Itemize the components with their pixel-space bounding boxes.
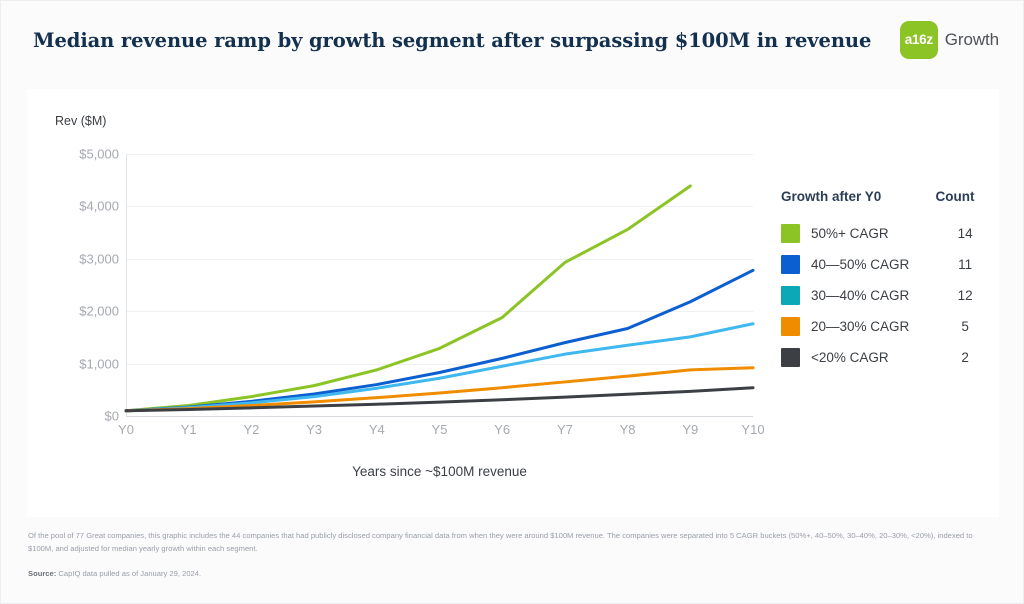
page-title: Median revenue ramp by growth segment af…: [33, 29, 871, 52]
footnotes: Of the pool of 77 Great companies, this …: [28, 529, 973, 578]
legend-header-growth: Growth after Y0: [781, 189, 929, 204]
legend-item-label: 40—50% CAGR: [811, 257, 939, 272]
x-axis-title: Years since ~$100M revenue: [126, 464, 753, 479]
legend-item-label: 50%+ CAGR: [811, 226, 939, 241]
legend-item-label: <20% CAGR: [811, 350, 939, 365]
legend-swatch-icon: [781, 224, 800, 243]
legend-swatch-icon: [781, 348, 800, 367]
legend-item-count: 5: [939, 319, 991, 334]
legend-item-label: 30—40% CAGR: [811, 288, 939, 303]
source-text: CapIQ data pulled as of January 29, 2024…: [58, 569, 201, 578]
legend-header-row: Growth after Y0 Count: [781, 189, 991, 204]
legend-item-count: 2: [939, 350, 991, 365]
legend-swatch-icon: [781, 286, 800, 305]
legend-item[interactable]: <20% CAGR2: [781, 342, 991, 373]
legend-item[interactable]: 50%+ CAGR14: [781, 218, 991, 249]
series-line: [126, 324, 753, 411]
a16z-growth-logo: a16z Growth: [900, 21, 999, 59]
legend-item[interactable]: 20—30% CAGR5: [781, 311, 991, 342]
legend-item-count: 12: [939, 288, 991, 303]
infographic-page: Median revenue ramp by growth segment af…: [0, 0, 1024, 604]
legend-item-label: 20—30% CAGR: [811, 319, 939, 334]
footnote-source: Source: CapIQ data pulled as of January …: [28, 569, 973, 578]
legend-item[interactable]: 30—40% CAGR12: [781, 280, 991, 311]
source-label: Source:: [28, 569, 56, 578]
a16z-logo-mark: a16z: [900, 21, 938, 59]
a16z-logo-text: a16z: [905, 33, 933, 47]
legend-item[interactable]: 40—50% CAGR11: [781, 249, 991, 280]
series-line: [126, 388, 753, 411]
chart-legend: Growth after Y0 Count 50%+ CAGR1440—50% …: [781, 189, 991, 373]
footnote-methodology: Of the pool of 77 Great companies, this …: [28, 529, 973, 556]
logo-wordmark: Growth: [945, 30, 999, 50]
chart-card: Rev ($M) $0$1,000$2,000$3,000$4,000$5,00…: [27, 89, 999, 517]
legend-header-count: Count: [929, 189, 981, 204]
legend-swatch-icon: [781, 317, 800, 336]
header: Median revenue ramp by growth segment af…: [1, 1, 1023, 89]
legend-rows: 50%+ CAGR1440—50% CAGR1130—40% CAGR1220—…: [781, 218, 991, 373]
legend-swatch-icon: [781, 255, 800, 274]
legend-item-count: 14: [939, 226, 991, 241]
legend-item-count: 11: [939, 257, 991, 272]
